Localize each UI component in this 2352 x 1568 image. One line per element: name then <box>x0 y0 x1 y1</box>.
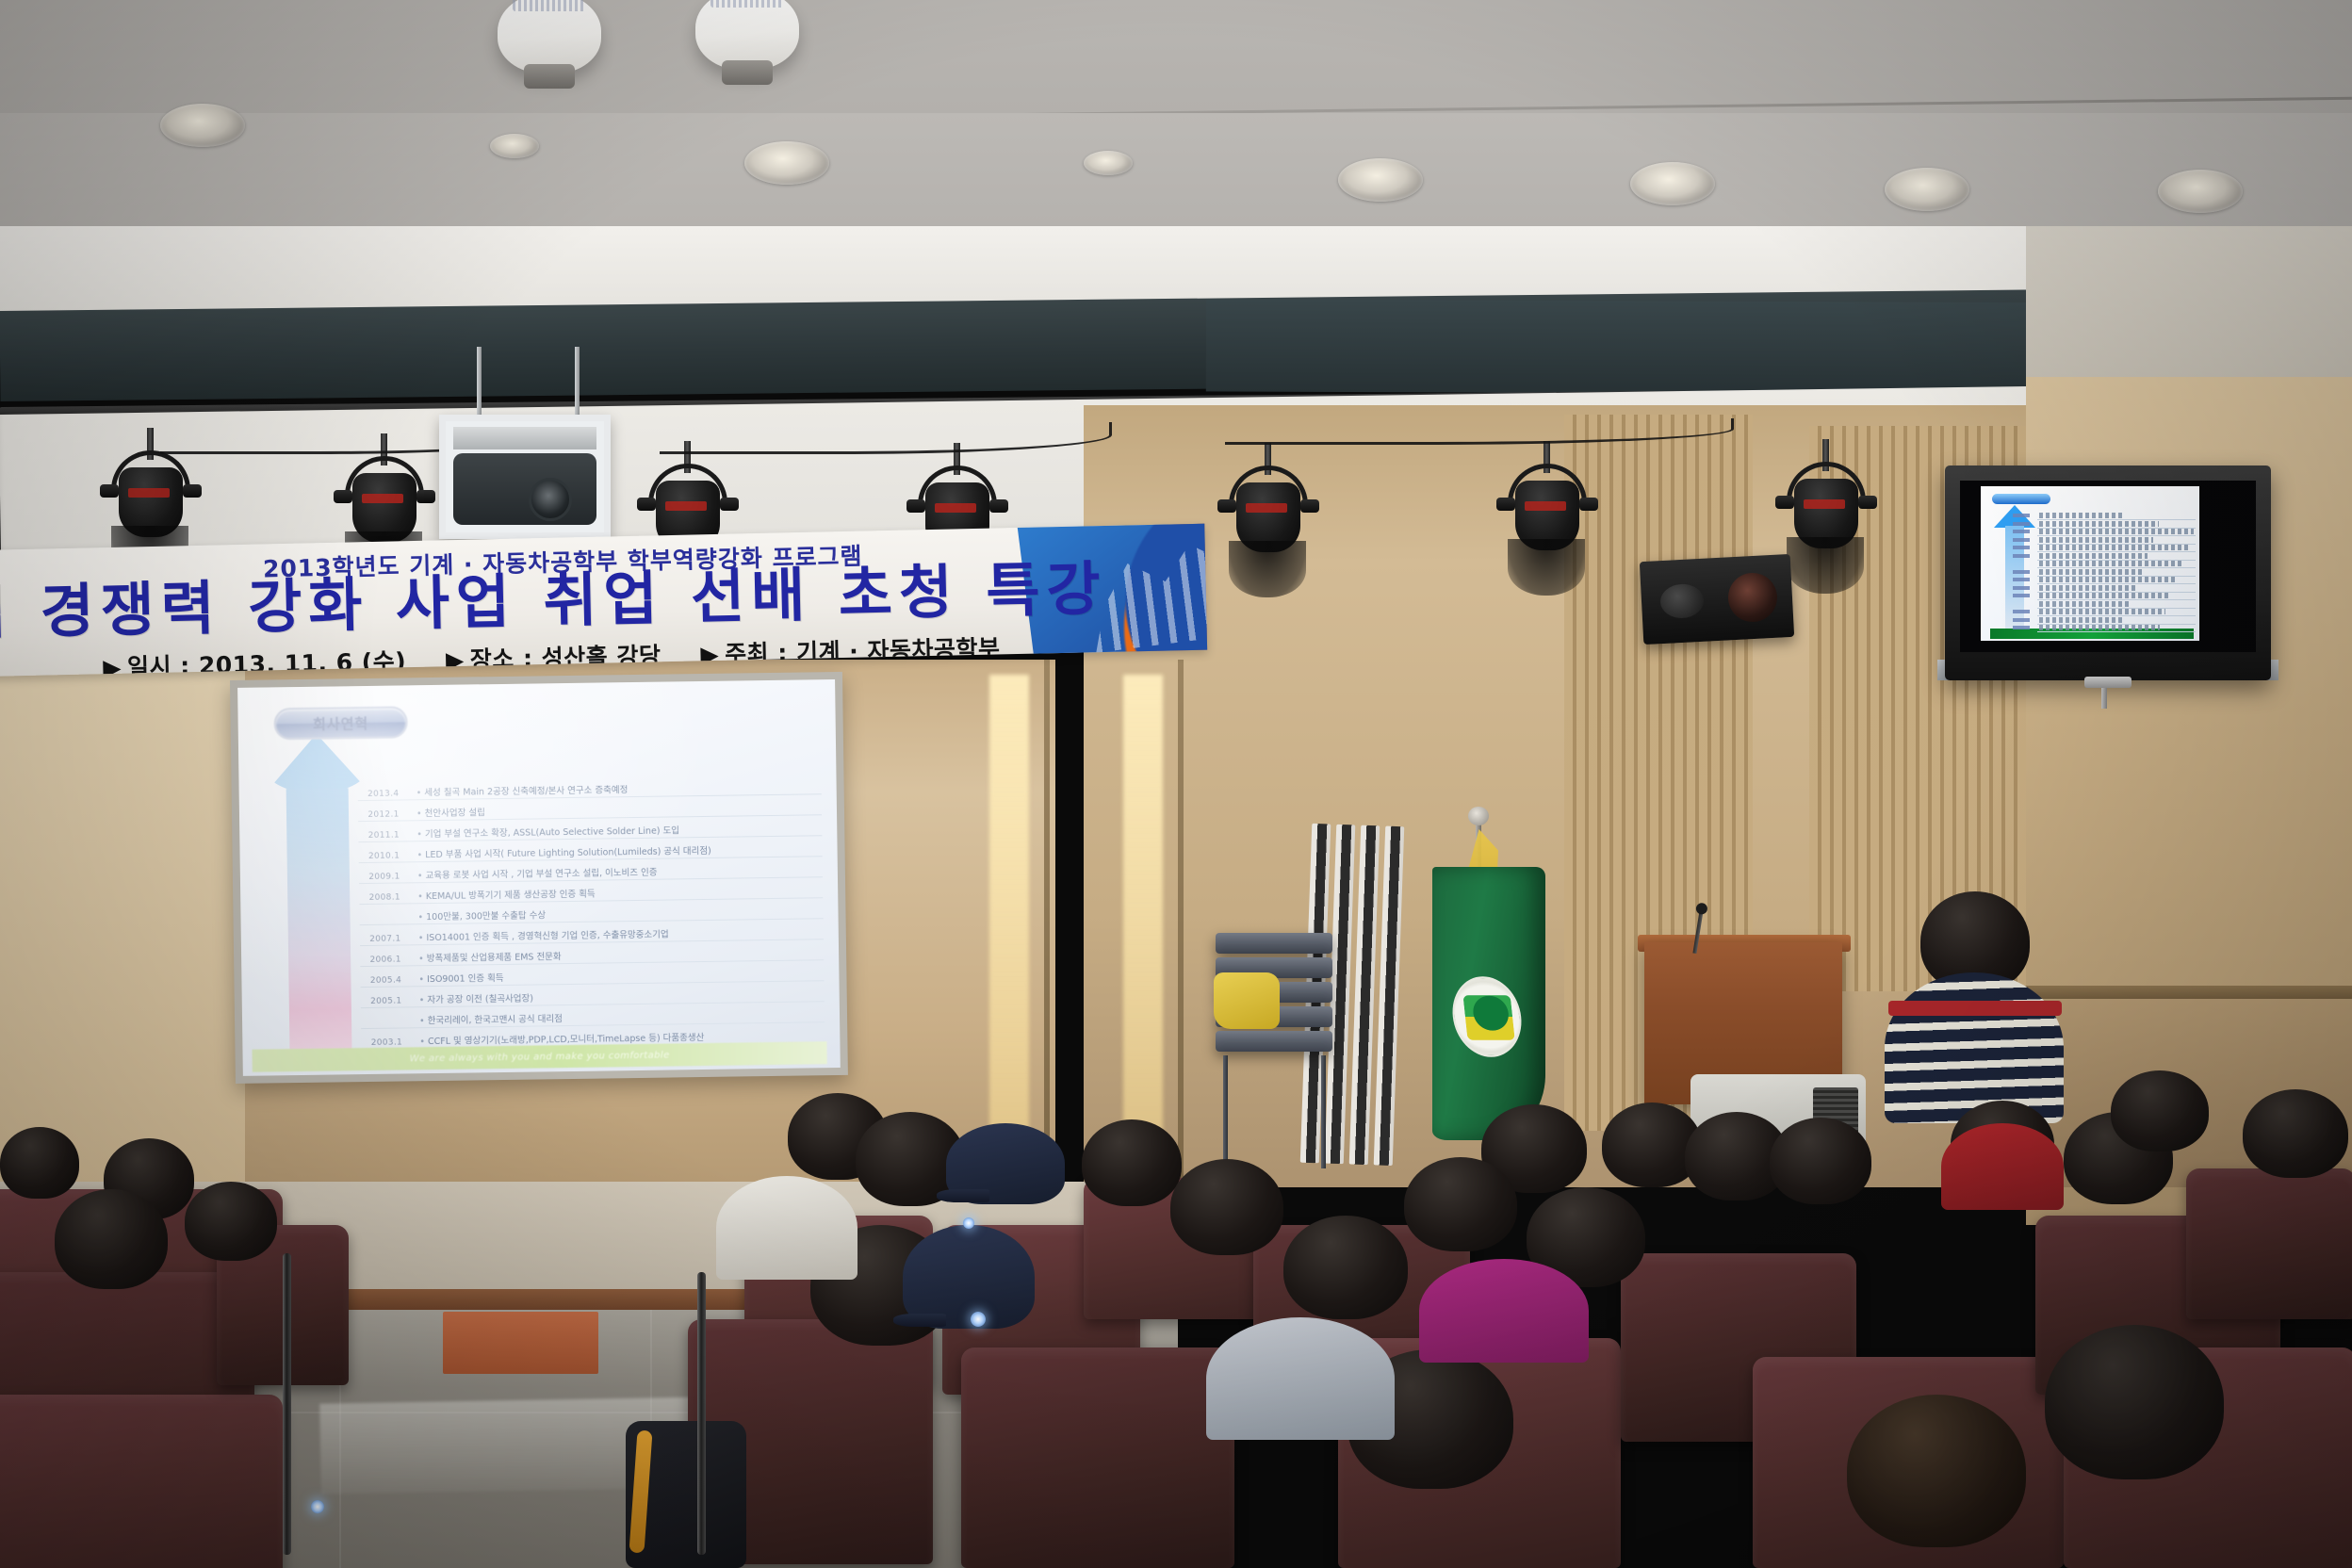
audience-head <box>1283 1216 1408 1319</box>
rope-bundle <box>1214 972 1280 1029</box>
tv-slide-row-text <box>2039 585 2136 591</box>
slide-arrow-graphic <box>265 733 373 1055</box>
left-wall-light-panel <box>0 660 245 1187</box>
audience-head <box>1770 1118 1871 1204</box>
ceiling-downlight <box>1885 168 1969 211</box>
audience-head <box>1082 1119 1182 1206</box>
seat-light-dot <box>311 1500 324 1513</box>
par-can-stage-light <box>1223 471 1314 558</box>
tv-slide-row-year <box>2013 610 2030 613</box>
tv-slide-row-text <box>2039 561 2182 566</box>
audience-head <box>2045 1325 2224 1479</box>
light-lens <box>128 488 170 498</box>
audience-head <box>55 1189 168 1289</box>
slide-row-year: 2008.1 <box>359 892 410 903</box>
par-can-stage-light <box>1781 467 1871 554</box>
ceiling-downlight <box>2158 170 2243 213</box>
tv-slide-row-text <box>2039 593 2171 598</box>
ceiling-downlight <box>1338 158 1423 202</box>
seat-row-rail <box>283 1253 291 1555</box>
tv-slide-row-text <box>2039 553 2148 559</box>
par-can-stage-light <box>339 462 430 548</box>
tv-slide-row-text <box>2039 625 2160 630</box>
tv-slide-row-text <box>2039 521 2159 527</box>
stacked-chairs <box>1216 933 1338 1168</box>
tv-slide-row-year <box>2013 538 2030 542</box>
slide-row-year: 2012.1 <box>358 809 409 820</box>
tv-screen <box>1960 481 2256 652</box>
tv-slide-row-year <box>2013 594 2030 597</box>
flag-pole-finial <box>1468 807 1489 825</box>
tv-slide-row-line <box>2037 631 2196 632</box>
ceiling-speaker-pod <box>498 0 601 73</box>
audience-cap <box>946 1123 1065 1204</box>
tv-slide-row-year <box>2013 514 2030 517</box>
audience-head <box>185 1182 277 1261</box>
ceiling-speaker-pod <box>695 0 799 70</box>
ceiling-downlight <box>1084 151 1133 175</box>
tv-slide-row-year <box>2013 626 2030 629</box>
bullet-triangle-icon: ▶ <box>103 654 122 677</box>
projector-lens <box>529 478 572 521</box>
wall-cove-light <box>1123 675 1163 1146</box>
slide-row-year: 2013.4 <box>358 789 409 799</box>
slide-timeline-rows: 2013.4세성 칠곡 Main 2공장 신축예정/본사 연구소 증축예정201… <box>357 774 825 1040</box>
ceiling-projector <box>439 415 611 539</box>
slide-row-year: 2009.1 <box>359 872 410 882</box>
audience-white-jacket <box>716 1176 857 1280</box>
audience-head <box>1847 1395 2026 1547</box>
tv-slide-row-year <box>2013 522 2030 526</box>
tv-slide-row-text <box>2039 617 2125 623</box>
tv-slide-row-text <box>2039 577 2177 582</box>
lecture-hall-photo: 2013학년도 기계 · 자동차공학부 학부역량강화 프로그램 업 경쟁력 강화… <box>0 0 2352 1568</box>
tv-slide-row-year <box>2013 586 2030 590</box>
slide-row-year: 2010.1 <box>359 851 410 861</box>
tv-slide-row-text <box>2039 545 2188 550</box>
presenter-sweater-red-stripe <box>1888 1001 2062 1016</box>
stage-step <box>443 1312 598 1374</box>
tv-slide-row-text <box>2039 529 2194 534</box>
auditorium-seat <box>0 1395 283 1568</box>
slide-row-year <box>361 1026 412 1027</box>
tv-slide-row-text <box>2039 537 2153 543</box>
slide-row-text: 창 업 <box>420 1070 825 1076</box>
audience-head <box>1404 1157 1517 1251</box>
wall-mounted-tv <box>1945 465 2271 680</box>
tv-slide-row-text <box>2039 609 2165 614</box>
tv-slide-row-year <box>2013 618 2030 622</box>
presenter-torso <box>1885 972 2064 1123</box>
audience-head <box>2111 1070 2209 1151</box>
projector-housing <box>453 453 596 525</box>
audience-red-jacket <box>1941 1123 2064 1210</box>
slide-row-year: 2006.1 <box>360 955 411 965</box>
cap-light-dot <box>971 1312 986 1327</box>
slide-row-year: 2005.1 <box>361 996 412 1006</box>
event-banner: 2013학년도 기계 · 자동차공학부 학부역량강화 프로그램 업 경쟁력 강화… <box>0 524 1207 677</box>
projector-mount-rod <box>575 347 580 420</box>
auditorium-seat <box>961 1347 1234 1568</box>
light-knob <box>183 484 202 498</box>
wall-loudspeaker <box>1640 554 1794 645</box>
audience-head <box>1170 1159 1283 1255</box>
projector-mount-rod <box>477 347 482 420</box>
par-can-stage-light <box>106 456 196 543</box>
ceiling-downlight <box>1630 162 1715 205</box>
light-knob <box>100 484 119 498</box>
far-right-upper-wall <box>2026 226 2352 386</box>
ceiling-downlight <box>490 134 539 158</box>
wall-panel-gap <box>1178 660 1184 1187</box>
projection-screen: 회사연혁 2013.4세성 칠곡 Main 2공장 신축예정/본사 연구소 증축… <box>237 679 841 1076</box>
audience-head <box>2243 1089 2348 1178</box>
tv-slide-row-year <box>2013 554 2030 558</box>
par-can-stage-light <box>1502 469 1592 556</box>
wall-panel-gap <box>1044 660 1050 1187</box>
tv-mount-plate <box>2084 677 2131 688</box>
tv-mirrored-slide <box>1981 486 2199 641</box>
tv-slide-row-text <box>2039 513 2124 518</box>
projection-screen-frame: 회사연혁 2013.4세성 칠곡 Main 2공장 신축예정/본사 연구소 증축… <box>230 672 848 1084</box>
tv-slide-title-badge <box>1992 494 2050 504</box>
tv-slide-row-text <box>2039 601 2131 607</box>
ceiling-downlight <box>744 141 829 185</box>
auditorium-seat <box>2186 1168 2352 1319</box>
ceiling-downlight <box>160 104 245 147</box>
seat-row-rail <box>697 1272 706 1555</box>
tv-slide-row-year <box>2013 530 2030 533</box>
audience-magenta-jacket <box>1419 1259 1589 1363</box>
tv-slide-row-year <box>2013 578 2030 581</box>
audience-cap <box>903 1225 1035 1329</box>
backpack <box>626 1421 746 1568</box>
projector-bracket <box>453 427 596 449</box>
audience-head <box>0 1127 79 1199</box>
slide-title-badge: 회사연혁 <box>273 706 407 740</box>
cap-light-dot <box>963 1217 974 1229</box>
slide-row-year: 2005.4 <box>360 975 411 986</box>
slide-row-year: 2007.1 <box>360 934 411 944</box>
tv-slide-row-year <box>2013 570 2030 574</box>
audience-hoodie <box>1206 1317 1395 1440</box>
wall-cove-light <box>989 675 1029 1146</box>
slide-row-year <box>360 923 411 923</box>
slide-row-year: 2011.1 <box>358 830 409 841</box>
tv-slide-row-text <box>2039 569 2142 575</box>
tv-slide-row-year <box>2013 546 2030 549</box>
